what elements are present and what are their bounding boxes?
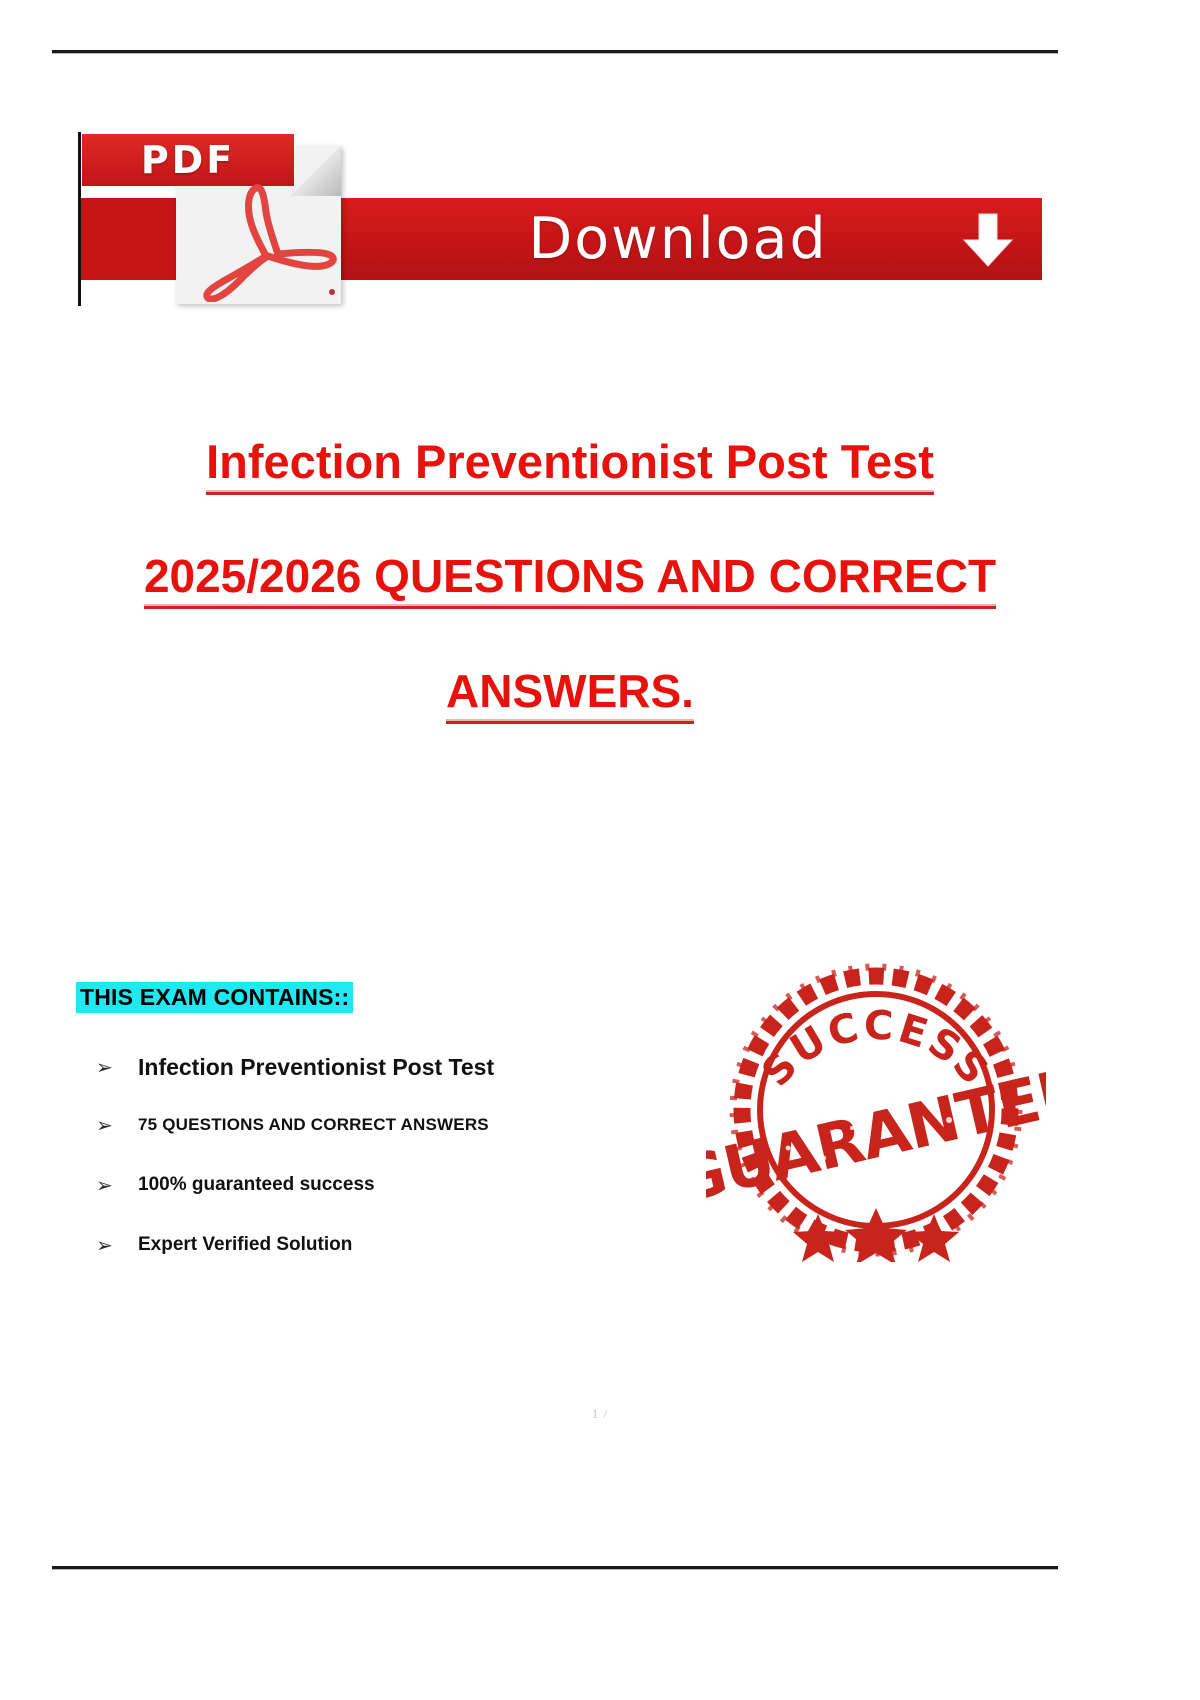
success-guarantee-stamp: SUCCESS GUARANTEE bbox=[706, 952, 1046, 1262]
arrow-bullet-icon: ➢ bbox=[96, 1170, 124, 1200]
list-item-label: 100% guaranteed success bbox=[138, 1170, 736, 1200]
list-item: ➢ Infection Preventionist Post Test bbox=[96, 1052, 736, 1082]
document-page: PDF Download Infection Preventionist Pos… bbox=[0, 0, 1200, 1700]
list-item: ➢ 100% guaranteed success bbox=[96, 1170, 736, 1200]
page-title: Infection Preventionist Post Test 2025/2… bbox=[60, 404, 1080, 749]
title-line-2-text: 2025/2026 QUESTIONS AND CORRECT bbox=[144, 550, 996, 609]
list-item-label: Expert Verified Solution bbox=[138, 1230, 736, 1260]
arrow-bullet-icon: ➢ bbox=[96, 1052, 124, 1082]
list-item: ➢ Expert Verified Solution bbox=[96, 1230, 736, 1260]
acrobat-swoosh-icon bbox=[182, 182, 340, 302]
download-label: Download bbox=[418, 204, 938, 274]
exam-contains-heading: THIS EXAM CONTAINS:: bbox=[76, 982, 353, 1013]
pdf-file-icon: PDF bbox=[78, 126, 343, 306]
download-arrow-icon[interactable] bbox=[958, 210, 1018, 270]
arrow-bullet-icon: ➢ bbox=[96, 1230, 124, 1260]
page-footer: 1 / bbox=[0, 1406, 1200, 1422]
arrow-bullet-icon: ➢ bbox=[96, 1110, 124, 1140]
pdf-icon-spine bbox=[78, 132, 81, 306]
pdf-download-banner[interactable]: PDF Download bbox=[78, 126, 1042, 306]
title-line-1: Infection Preventionist Post Test bbox=[60, 404, 1080, 519]
title-line-2: 2025/2026 QUESTIONS AND CORRECT bbox=[60, 519, 1080, 634]
list-item-label: Infection Preventionist Post Test bbox=[138, 1052, 736, 1082]
title-line-1-text: Infection Preventionist Post Test bbox=[206, 435, 934, 495]
title-line-3-text: ANSWERS. bbox=[446, 665, 694, 724]
top-rule bbox=[52, 50, 1058, 53]
exam-contents-list: ➢ Infection Preventionist Post Test ➢ 75… bbox=[96, 1052, 736, 1290]
bottom-rule bbox=[52, 1566, 1058, 1569]
list-item: ➢ 75 QUESTIONS AND CORRECT ANSWERS bbox=[96, 1110, 736, 1140]
pdf-icon-label: PDF bbox=[82, 134, 294, 186]
title-line-3: ANSWERS. bbox=[60, 634, 1080, 749]
list-item-label: 75 QUESTIONS AND CORRECT ANSWERS bbox=[138, 1110, 736, 1140]
